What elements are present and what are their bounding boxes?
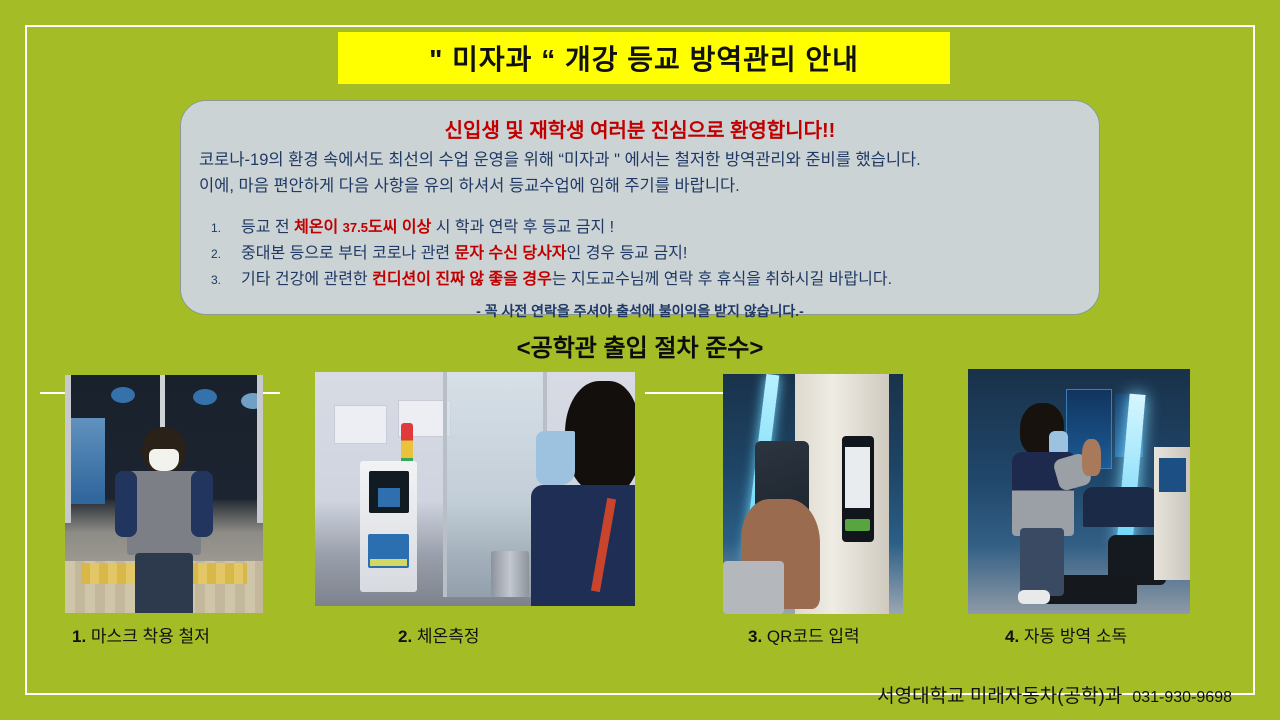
rule-emphasis-number: 37.5: [343, 220, 368, 235]
waiting-chair: [1083, 487, 1157, 527]
list-item: 2. 중대본 등으로 부터 코로나 관련 문자 수신 당사자인 경우 등교 금지…: [199, 241, 1081, 267]
section-heading: <공학관 출입 절차 준수>: [0, 328, 1280, 363]
notice-paragraph-1: 코로나-19의 환경 속에서도 최선의 수업 운영을 위해 “미자과 " 에서는…: [199, 149, 1081, 173]
face-mask: [149, 449, 179, 471]
caption-text: QR코드 입력: [762, 627, 860, 646]
caption-number: 2.: [398, 627, 412, 646]
photo-2-scene: [315, 372, 635, 606]
person-head: [565, 381, 635, 493]
caption-number: 3.: [748, 627, 762, 646]
face-mask: [536, 431, 574, 485]
person-being-scanned: [513, 381, 635, 606]
rule-prefix: 기타 건강에 관련한: [241, 271, 372, 288]
qr-code: [849, 468, 867, 500]
photo-4-scene: [968, 369, 1190, 614]
rule-suffix: 인 경우 등교 금지!: [567, 245, 688, 262]
caption-number: 1.: [72, 627, 86, 646]
notice-panel: 신입생 및 재학생 여러분 진심으로 환영합니다!! 코로나-19의 환경 속에…: [180, 100, 1100, 315]
photo-3-scene: [723, 374, 903, 614]
list-item-text: 등교 전 체온이 37.5도씨 이상 시 학과 연락 후 등교 금지 !: [241, 215, 1081, 241]
notice-footnote: - 꼭 사전 연락을 주셔야 출석에 불이익을 받지 않습니다.-: [199, 301, 1081, 321]
photo-caption-1: 1. 마스크 착용 철저: [72, 622, 210, 647]
photo-temperature-check: [315, 372, 635, 606]
photo-caption-2: 2. 체온측정: [398, 622, 479, 647]
wall-notice-1: [334, 405, 387, 444]
person-legs: [135, 553, 193, 613]
footer-department: 서영대학교 미래자동차(공학)과: [877, 681, 1122, 708]
person-palm: [1082, 439, 1102, 475]
rule-prefix: 등교 전: [241, 219, 294, 236]
photo-auto-disinfection: [968, 369, 1190, 614]
kiosk-touch-panel: [368, 534, 409, 568]
page-title: " 미자과 “ 개강 등교 방역관리 안내: [429, 38, 859, 78]
caption-text: 마스크 착용 철저: [86, 627, 210, 646]
side-kiosk: [1154, 447, 1190, 579]
rule-emphasis: 체온이: [294, 219, 343, 236]
list-item: 3. 기타 건강에 관련한 컨디션이 진짜 않 좋을 경우는 지도교수님께 연락…: [199, 267, 1081, 293]
person-shoe: [1018, 590, 1050, 604]
rule-suffix: 시 학과 연락 후 등교 금지 !: [431, 219, 614, 236]
list-item-text: 중대본 등으로 부터 코로나 관련 문자 수신 당사자인 경우 등교 금지!: [241, 241, 1081, 267]
person-body: [531, 485, 635, 606]
caption-text: 자동 방역 소독: [1019, 627, 1127, 646]
notice-headline: 신입생 및 재학생 여러분 진심으로 환영합니다!!: [199, 114, 1081, 143]
list-item-number: 3.: [199, 271, 241, 290]
door-reflection: [111, 387, 135, 403]
kiosk-camera-screen: [369, 471, 409, 513]
notice-rule-list: 1. 등교 전 체온이 37.5도씨 이상 시 학과 연락 후 등교 금지 ! …: [199, 215, 1081, 293]
rule-prefix: 중대본 등으로 부터 코로나 관련: [241, 245, 455, 262]
door-poster: [71, 418, 105, 504]
person-pants: [1020, 528, 1064, 596]
qr-scanner-tablet: [842, 436, 874, 542]
list-item: 1. 등교 전 체온이 37.5도씨 이상 시 학과 연락 후 등교 금지 !: [199, 215, 1081, 241]
footer-phone: 031-930-9698: [1132, 689, 1232, 707]
person-disinfecting-hands: [1012, 403, 1087, 604]
list-item-text: 기타 건강에 관련한 컨디션이 진짜 않 좋을 경우는 지도교수님께 연락 후 …: [241, 267, 1081, 293]
rule-emphasis: 문자 수신 당사자: [455, 245, 567, 262]
slide-canvas: " 미자과 “ 개강 등교 방역관리 안내 신입생 및 재학생 여러분 진심으로…: [0, 0, 1280, 720]
caption-number: 4.: [1005, 627, 1019, 646]
caption-text: 체온측정: [412, 627, 479, 646]
rule-emphasis-tail: 도씨 이상: [368, 219, 431, 236]
photo-caption-4: 4. 자동 방역 소독: [1005, 622, 1127, 647]
photo-mask-wearing: [65, 375, 263, 613]
photo-1-scene: [65, 375, 263, 613]
list-item-number: 2.: [199, 245, 241, 264]
confirm-button: [845, 519, 870, 532]
photo-caption-3: 3. QR코드 입력: [748, 622, 860, 647]
slide-title-band: " 미자과 “ 개강 등교 방역관리 안내: [338, 32, 950, 84]
thermal-kiosk: [360, 461, 418, 592]
jacket-sleeve: [723, 561, 784, 614]
rule-suffix: 는 지도교수님께 연락 후 휴식을 취하시길 바랍니다.: [552, 271, 892, 288]
footer: 서영대학교 미래자동차(공학)과 031-930-9698: [877, 681, 1232, 708]
person-torso: [127, 471, 201, 555]
list-item-number: 1.: [199, 219, 241, 238]
person-adjusting-mask: [130, 427, 197, 584]
notice-paragraph-2: 이에, 마음 편안하게 다음 사항을 유의 하셔서 등교수업에 임해 주기를 바…: [199, 175, 1081, 199]
photo-qr-entry: [723, 374, 903, 614]
rule-emphasis: 컨디션이 진짜 않 좋을 경우: [372, 271, 552, 288]
